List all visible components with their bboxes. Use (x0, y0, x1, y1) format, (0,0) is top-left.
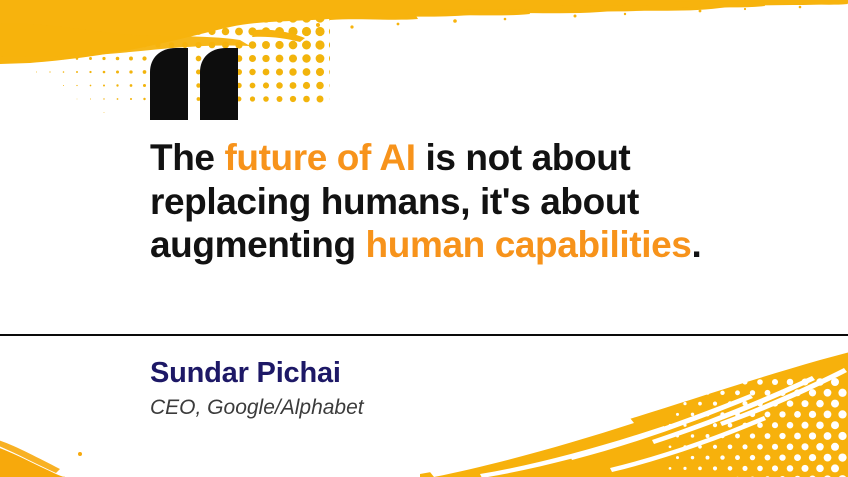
brush-stroke-top-icon (0, 0, 848, 64)
quote-mark-icon (146, 48, 242, 120)
quote-card: The future of AI is not about replacing … (0, 0, 848, 477)
brush-stroke-bottom-icon (420, 352, 848, 477)
divider (0, 334, 848, 336)
quote-highlight-run: future of AI (224, 137, 415, 178)
brush-fragment-icon (0, 438, 124, 477)
author-role: CEO, Google/Alphabet (150, 395, 364, 421)
quote-plain-run: The (150, 137, 224, 178)
quote-text: The future of AI is not about replacing … (150, 136, 710, 267)
quote-plain-run: . (691, 224, 701, 265)
author-name: Sundar Pichai (150, 355, 364, 391)
quote-highlight-run: human capabilities (366, 224, 692, 265)
attribution: Sundar Pichai CEO, Google/Alphabet (150, 355, 364, 421)
